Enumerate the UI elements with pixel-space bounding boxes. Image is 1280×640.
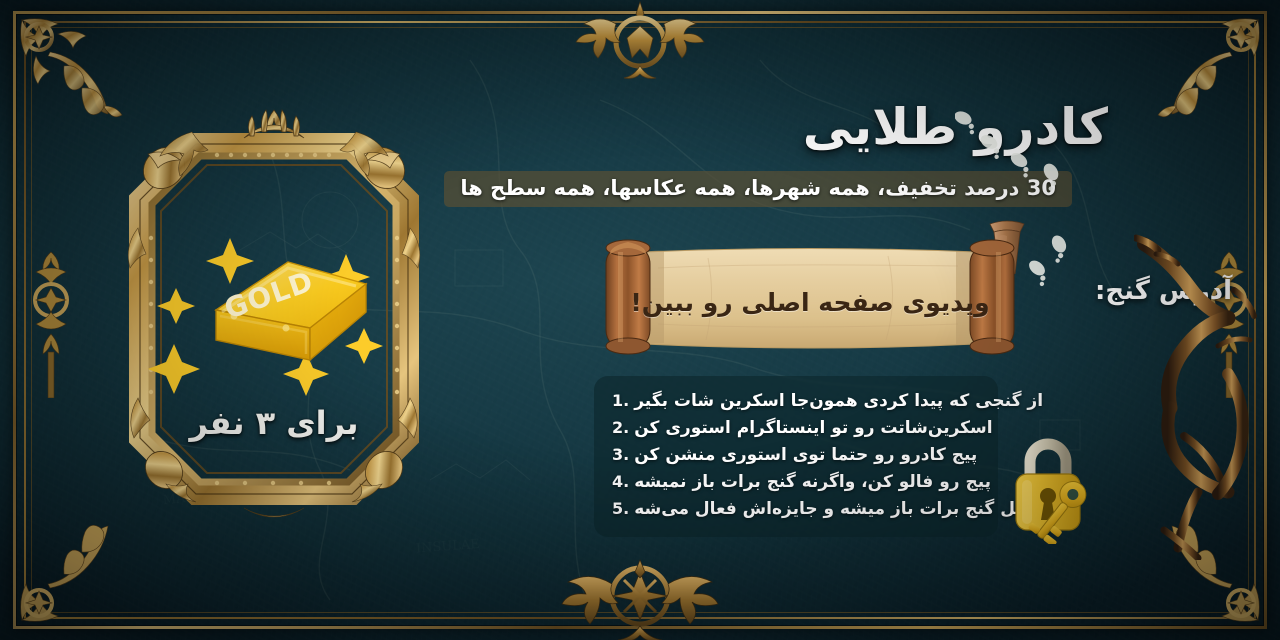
list-item: از گنجی که پیدا کردی همون‌جا اسکرین شات … bbox=[612, 388, 980, 415]
step-text: بعد قفل گنج برات باز میشه و جایزه‌اش فعا… bbox=[634, 501, 1070, 518]
list-item: بعد قفل گنج برات باز میشه و جایزه‌اش فعا… bbox=[612, 496, 980, 523]
list-item: اسکرین‌شاتت رو تو اینستاگرام استوری کن 2… bbox=[612, 415, 980, 442]
step-text: پیج کادرو رو حتما توی استوری منشن کن bbox=[634, 447, 977, 464]
steps-panel: از گنجی که پیدا کردی همون‌جا اسکرین شات … bbox=[594, 376, 998, 537]
step-text: پیج رو فالو کن، واگرنه گنج برات باز نمیش… bbox=[634, 474, 991, 491]
padlock-and-key bbox=[1008, 432, 1124, 544]
poster-canvas: MARE INSULAE TERRA bbox=[0, 0, 1280, 640]
frame-caption: برای ۳ نفر bbox=[104, 404, 444, 442]
list-item: پیج کادرو رو حتما توی استوری منشن کن 3. bbox=[612, 442, 980, 469]
subtitle-banner: 30 درصد تخفیف، همه شهرها، همه عکاسها، هم… bbox=[444, 171, 1072, 207]
gold-bar-illustration: GOLD bbox=[160, 232, 390, 382]
edge-medallion-left-icon bbox=[24, 248, 78, 398]
step-number: 1. bbox=[612, 393, 629, 409]
step-number: 4. bbox=[612, 474, 629, 490]
edge-medallion-right-icon bbox=[1202, 248, 1256, 398]
step-text: از گنجی که پیدا کردی همون‌جا اسکرین شات … bbox=[634, 393, 1043, 410]
page-title: کادرو طلایی bbox=[803, 101, 1108, 154]
parchment-scroll: ویدیوی صفحه اصلی رو ببین! bbox=[588, 238, 1032, 356]
step-number: 5. bbox=[612, 501, 629, 517]
heraldic-crest-icon bbox=[555, 0, 725, 84]
compass-rose-icon bbox=[540, 554, 740, 640]
step-number: 2. bbox=[612, 420, 629, 436]
step-number: 3. bbox=[612, 447, 629, 463]
step-text: اسکرین‌شاتت رو تو اینستاگرام استوری کن bbox=[634, 420, 992, 437]
list-item: پیج رو فالو کن، واگرنه گنج برات باز نمیش… bbox=[612, 469, 980, 496]
treasure-address-label: آدرس گنج: bbox=[1095, 276, 1232, 306]
